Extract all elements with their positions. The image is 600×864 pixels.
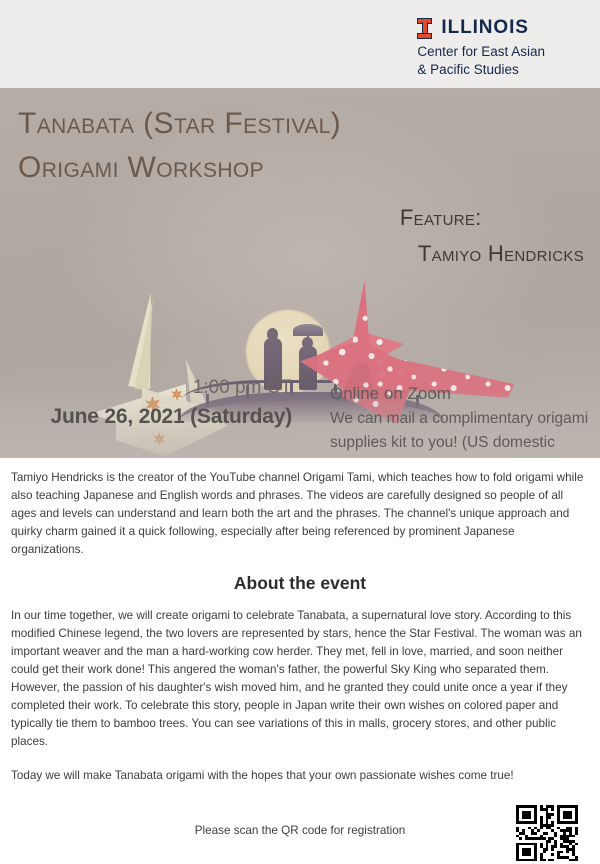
qr-code[interactable]	[513, 802, 581, 864]
poster-title-line1: Tanabata (Star Festival)	[18, 102, 341, 146]
feature-block: Feature: Tamiyo Hendricks	[400, 200, 584, 271]
kit-line2: supplies kit to you! (US domestic only)	[330, 431, 590, 458]
event-time: 1:00 pm CT	[0, 377, 292, 399]
kit-line1: We can mail a complimentary origami	[330, 407, 590, 431]
illinois-wordmark-row: ILLINOIS	[417, 17, 545, 39]
illinois-block-i-icon	[417, 18, 432, 39]
illinois-branding: ILLINOIS Center for East Asian & Pacific…	[417, 17, 545, 79]
about-paragraph: In our time together, we will create ori…	[11, 607, 589, 750]
qr-code-grid	[516, 805, 578, 861]
section-title-about: About the event	[11, 573, 589, 594]
platform-label: Online on Zoom	[330, 381, 590, 407]
unit-name: Center for East Asian & Pacific Studies	[417, 43, 545, 79]
poster-title: Tanabata (Star Festival) Origami Worksho…	[18, 102, 341, 189]
unit-name-line1: Center for East Asian	[417, 43, 545, 61]
event-platform-info: Online on Zoom We can mail a complimenta…	[330, 381, 590, 458]
unit-name-line2: & Pacific Studies	[417, 61, 545, 79]
feature-label: Feature:	[400, 200, 584, 236]
illinois-wordmark: ILLINOIS	[441, 17, 528, 39]
speaker-bio: Tamiyo Hendricks is the creator of the Y…	[11, 469, 589, 558]
qr-caption: Please scan the QR code for registration	[11, 824, 589, 837]
feature-speaker-name: Tamiyo Hendricks	[400, 236, 584, 272]
poster-title-line2: Origami Workshop	[18, 146, 341, 190]
poster-body: Tamiyo Hendricks is the creator of the Y…	[0, 469, 600, 864]
site-header: ILLINOIS Center for East Asian & Pacific…	[0, 0, 600, 88]
registration-footer: Please scan the QR code for registration	[11, 798, 589, 864]
event-date: June 26, 2021 (Saturday)	[0, 405, 292, 429]
hero-banner: Tanabata (Star Festival) Origami Worksho…	[0, 88, 600, 458]
event-poster: ILLINOIS Center for East Asian & Pacific…	[0, 0, 600, 776]
